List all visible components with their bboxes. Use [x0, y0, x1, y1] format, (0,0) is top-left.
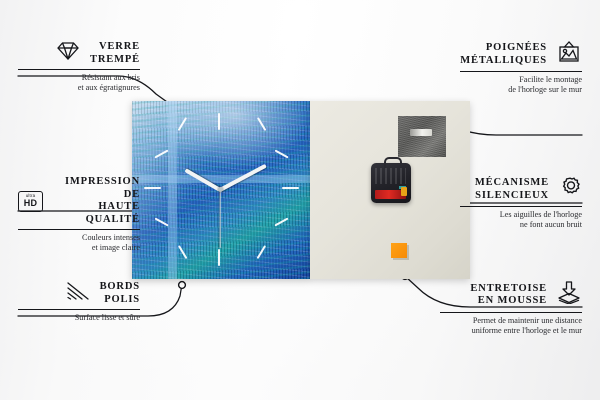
callout-subtitle: Couleurs intenses et image claire: [18, 233, 140, 253]
clock-face-front-panel: [132, 101, 310, 279]
callout-title: VERRE TREMPÉ: [90, 41, 140, 66]
callout-title: MÉCANISME SILENCIEUX: [475, 177, 549, 202]
callout-subtitle: Surface lisse et sûre: [18, 313, 140, 323]
callout-subtitle: Facilite le montage de l'horloge sur le …: [460, 75, 582, 95]
callout-title: ENTRETOISE EN MOUSSE: [470, 283, 547, 308]
infographic-canvas: VERRE TREMPÉ Résistant aux bris et aux é…: [0, 0, 600, 400]
hotspot-bords-polis: [179, 282, 186, 289]
clock-back-panel: [310, 101, 470, 279]
callout-rule: [18, 69, 140, 70]
callout-mecanisme-silencieux: MÉCANISME SILENCIEUX Les aiguilles de l'…: [460, 176, 582, 230]
battery: [375, 190, 406, 199]
mechanism-hook: [384, 157, 402, 168]
gear-icon: [558, 176, 582, 203]
ultra-hd-badge-icon: ultra HD: [18, 191, 43, 212]
callout-rule: [440, 312, 582, 313]
battery-terminal: [401, 187, 407, 196]
callout-entretoise-en-mousse: ENTRETOISE EN MOUSSE Permet de maintenir…: [440, 281, 582, 336]
quartz-clock-mechanism: [371, 163, 411, 203]
product-photo: [132, 101, 470, 279]
ultra-hd-large-text: HD: [24, 199, 37, 208]
clock-center-pin: [218, 187, 223, 192]
diamond-icon: [55, 41, 81, 66]
callout-subtitle: Résistant aux bris et aux égratignures: [18, 73, 140, 93]
callout-bords-polis: BORDS POLIS Surface lisse et sûre: [18, 281, 140, 323]
callout-title: POIGNÉES MÉTALLIQUES: [460, 42, 547, 67]
clock-second-hand: [219, 190, 220, 248]
callout-title: BORDS POLIS: [100, 281, 140, 306]
foam-spacer-arrow-icon: [556, 281, 582, 309]
mechanism-label: [375, 168, 406, 184]
callout-title: IMPRESSION DE HAUTE QUALITÉ: [52, 176, 140, 226]
polished-edge-icon: [65, 281, 91, 306]
callout-rule: [460, 206, 582, 207]
foam-spacer-pad: [391, 243, 407, 258]
picture-hanger-icon: [556, 41, 582, 68]
callout-poignees-metalliques: POIGNÉES MÉTALLIQUES Facilite le montage…: [460, 41, 582, 95]
callout-impression-haute-qualite: ultra HD IMPRESSION DE HAUTE QUALITÉ Cou…: [18, 176, 140, 253]
callout-subtitle: Les aiguilles de l'horloge ne font aucun…: [460, 210, 582, 230]
hanger-slot: [410, 129, 432, 136]
callout-rule: [460, 71, 582, 72]
callout-rule: [18, 229, 140, 230]
callout-subtitle: Permet de maintenir une distance uniform…: [440, 316, 582, 336]
callout-verre-trempe: VERRE TREMPÉ Résistant aux bris et aux é…: [18, 41, 140, 93]
callout-rule: [18, 309, 140, 310]
metal-hanger-plate: [398, 116, 446, 157]
